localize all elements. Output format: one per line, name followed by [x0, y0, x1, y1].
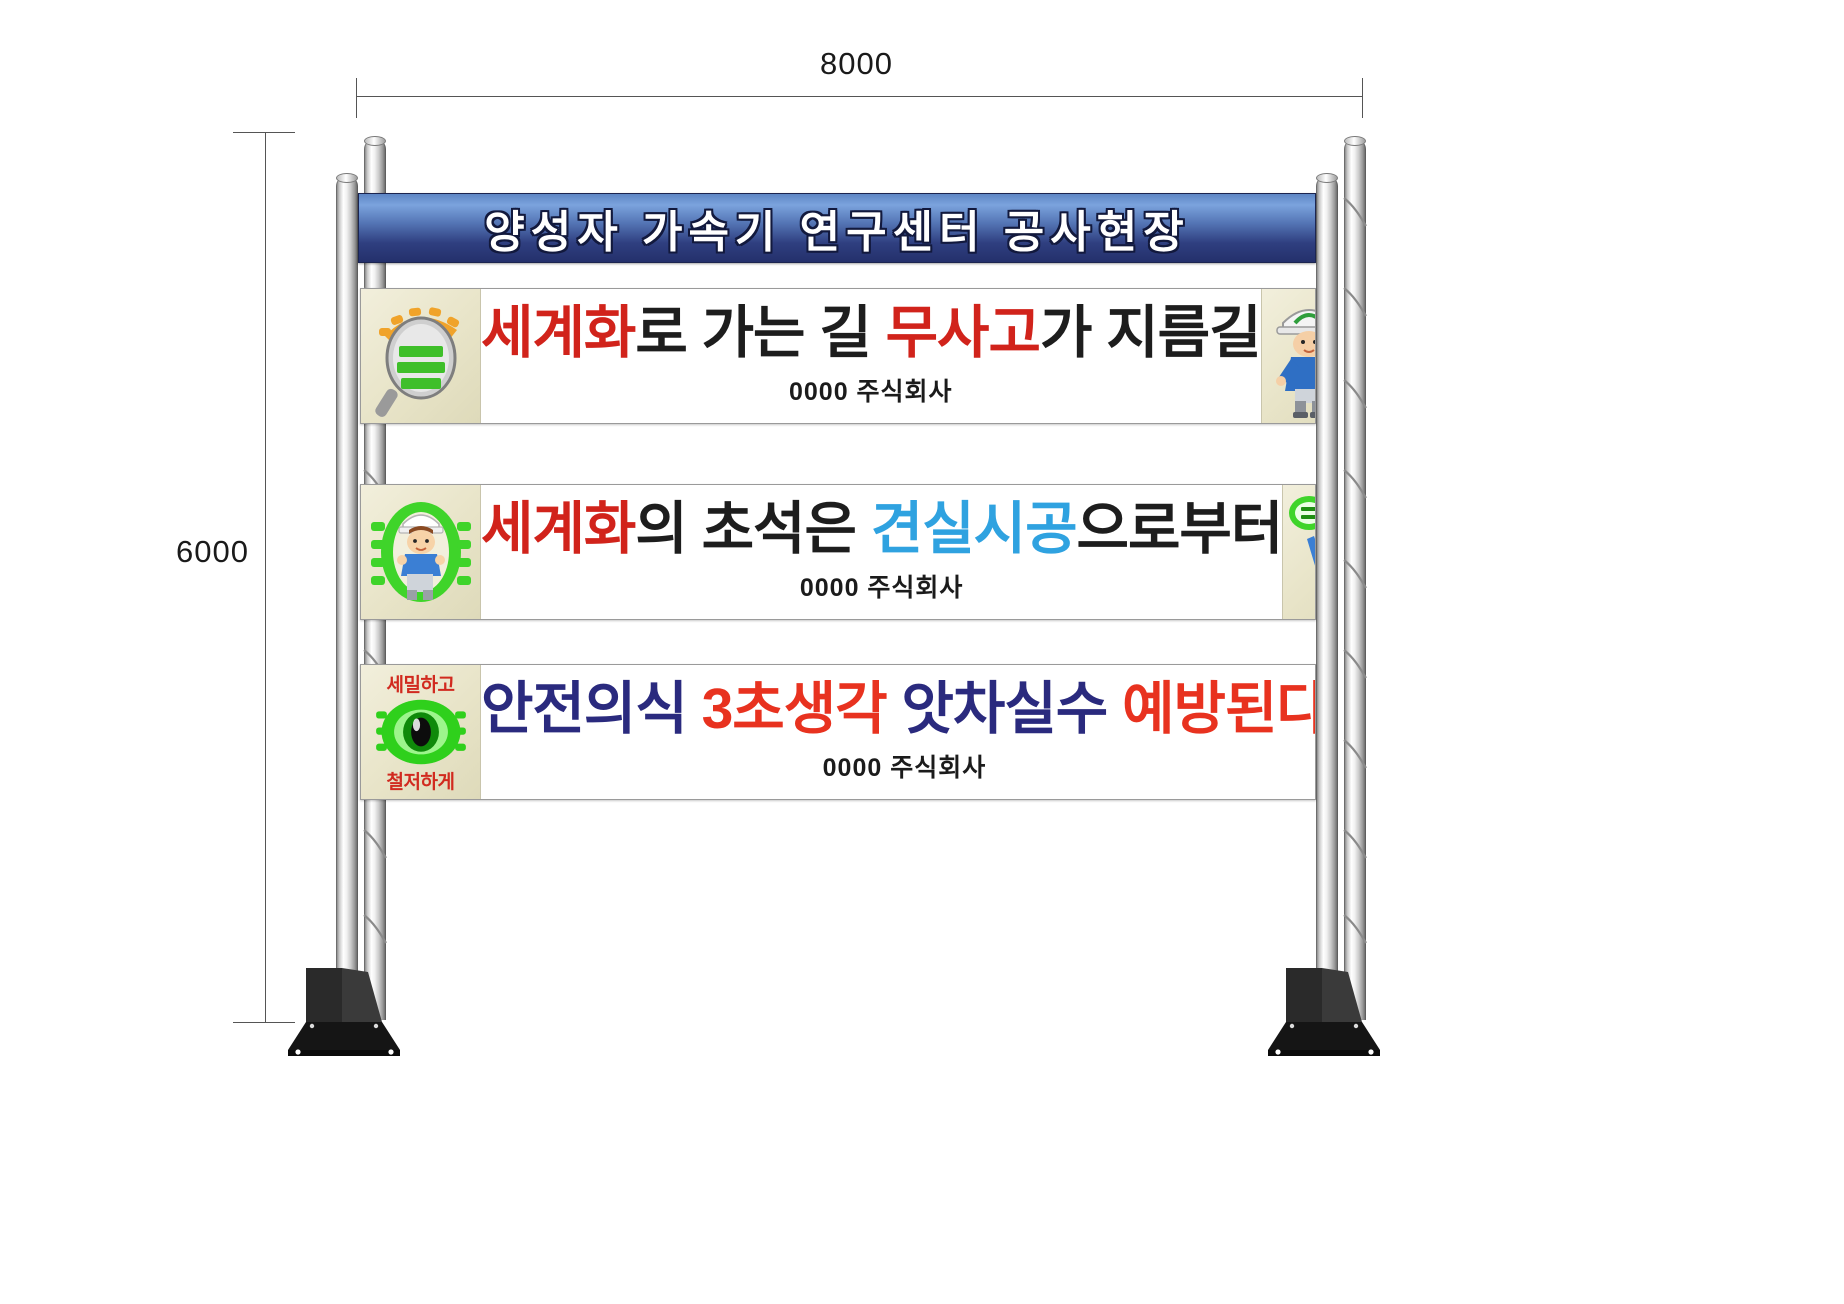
banner-1-body: 세계화로 가는 길 무사고가 지름길 0000 주식회사: [481, 289, 1261, 423]
right-post-rear-cap: [1344, 136, 1366, 146]
width-dimension-tick-left: [356, 78, 357, 118]
eye-inspection-icon: [371, 697, 471, 767]
banner-1-seg-0: 세계화: [481, 301, 635, 365]
slogan-banner-3: 세밀하고 철저하게 안전의식 3초생각 앗차실: [360, 664, 1316, 800]
banner-3-left-art: 세밀하고 철저하게: [361, 665, 481, 799]
banner-3-seg-1: 3초생각: [702, 677, 887, 741]
banner-1-seg-3: 가 지름길: [1040, 301, 1261, 365]
banner-3-body: 안전의식 3초생각 앗차실수 예방된다 0000 주식회사: [481, 665, 1316, 799]
site-title-banner: 양성자 가속기 연구센터 공사현장: [358, 193, 1316, 263]
height-dimension-line: [265, 132, 266, 1022]
banner-2-seg-3: 으로부터: [1077, 497, 1283, 561]
banner-2-right-art: [1282, 485, 1316, 619]
banner-1-seg-1: 로 가는 길: [635, 301, 885, 365]
banner-1-slogan: 세계화로 가는 길 무사고가 지름길: [481, 305, 1261, 362]
banner-1-company: 0000 주식회사: [789, 372, 953, 408]
banner-2-seg-2: 견실시공: [871, 497, 1077, 561]
banner-3-slogan: 안전의식 3초생각 앗차실수 예방된다: [481, 681, 1316, 738]
banner-2-slogan: 세계화의 초석은 견실시공으로부터: [481, 501, 1282, 558]
banner-2-seg-0: 세계화: [481, 497, 635, 561]
banner-2-company: 0000 주식회사: [800, 568, 964, 604]
site-title-text: 양성자 가속기 연구센터 공사현장: [484, 196, 1189, 260]
width-dimension-tick-right: [1362, 78, 1363, 118]
width-dimension-label: 8000: [820, 46, 893, 82]
magnifier-safety-icon: [365, 292, 477, 420]
worker-gear-icon: [365, 488, 477, 616]
banner-3-seg-0: 안전의식: [481, 677, 702, 741]
banner-3-company: 0000 주식회사: [823, 748, 987, 784]
left-baseplate: [288, 960, 428, 1060]
banner-1-left-art: [361, 289, 481, 423]
banner-2-seg-1: 의 초석은: [635, 497, 870, 561]
banner-1-seg-2: 무사고: [886, 301, 1040, 365]
banner-2-left-art: [361, 485, 481, 619]
height-dimension-tick-bottom: [233, 1022, 295, 1023]
width-dimension-line: [356, 96, 1362, 97]
slogan-banner-2: 세계화의 초석은 견실시공으로부터 0000 주식회사: [360, 484, 1316, 620]
worker-salute-icon: [1265, 293, 1316, 419]
banner-3-seg-2: 앗차실수: [887, 677, 1122, 741]
height-dimension-label: 6000: [176, 534, 249, 570]
banner-1-right-art: [1261, 289, 1316, 423]
worker-two-signs-icon: [1285, 489, 1316, 615]
banner-2-body: 세계화의 초석은 견실시공으로부터 0000 주식회사: [481, 485, 1282, 619]
left-post-rear-cap: [364, 136, 386, 146]
slogan-banner-1: 세계화로 가는 길 무사고가 지름길 0000 주식회사: [360, 288, 1316, 424]
drawing-canvas: 8000 6000: [0, 0, 1844, 1304]
height-dimension-tick-top: [233, 132, 295, 133]
banner-3-caption-top: 세밀하고: [387, 670, 455, 697]
right-baseplate: [1268, 960, 1408, 1060]
banner-3-caption-bottom: 철저하게: [387, 767, 455, 794]
banner-3-seg-3: 예방된다: [1122, 677, 1316, 741]
right-post-braces: [1310, 170, 1380, 1030]
